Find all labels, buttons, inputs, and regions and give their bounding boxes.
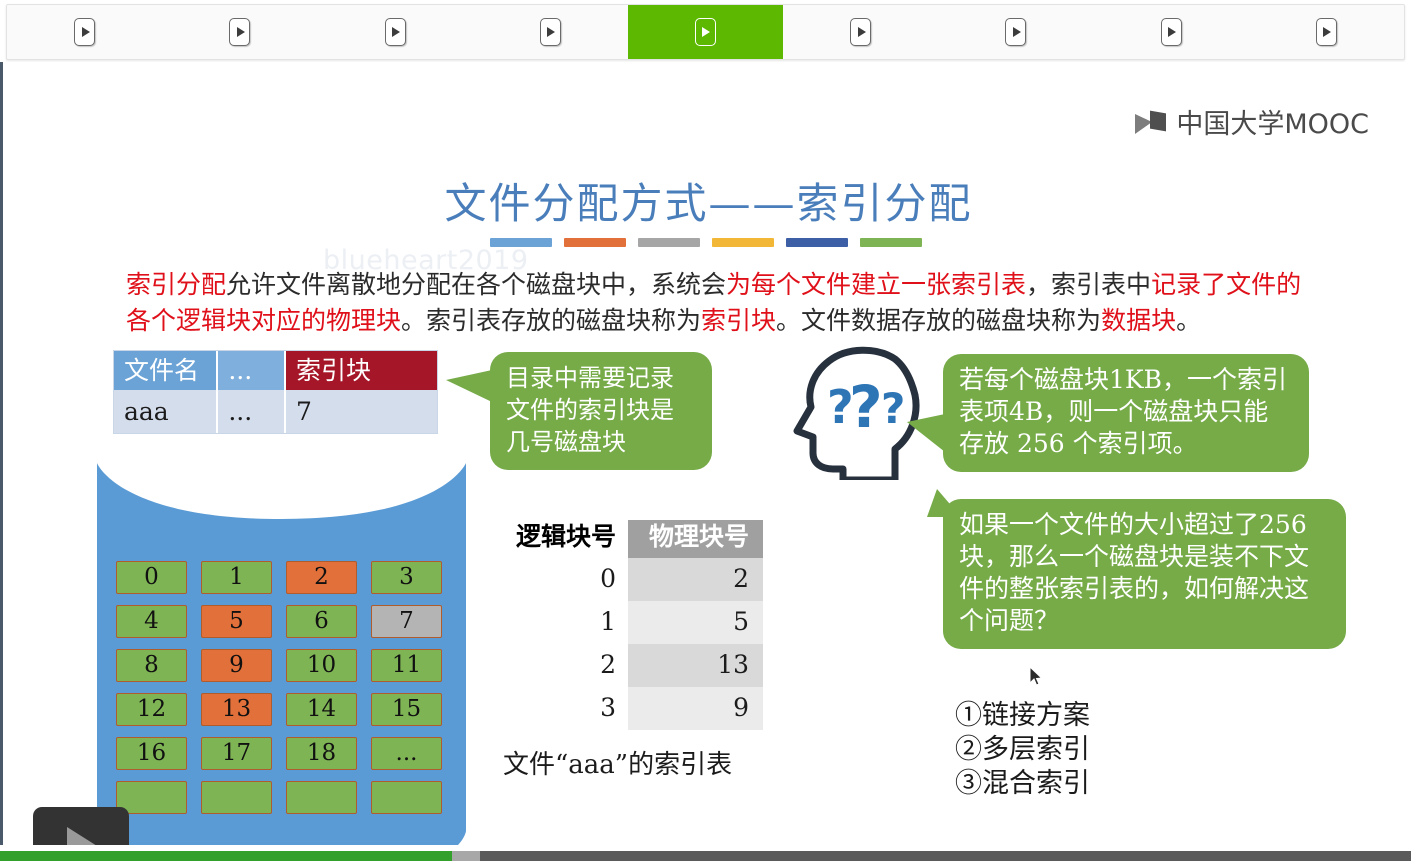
para-seg-2: 允许文件离散地分配在各个磁盘块中，系统会 [226, 270, 726, 299]
disk-block-row: 12 13 14 15 [116, 693, 451, 726]
rule-bar-5 [786, 238, 848, 247]
disk-block-row: 16 17 18 ... [116, 737, 451, 770]
index-table-header-row: 逻辑块号 物理块号 [503, 520, 763, 558]
title-underline-bars [490, 238, 922, 247]
rule-bar-4 [712, 238, 774, 247]
list-item: ①链接方案 [955, 700, 1090, 732]
disk-block-index: 7 [371, 605, 442, 638]
disk-block-data: 5 [201, 605, 272, 638]
video-play-icon [385, 18, 406, 46]
svg-text:?: ? [881, 384, 905, 433]
para-seg-1: 索引分配 [126, 270, 226, 299]
dir-header-indexblock: 索引块 [286, 351, 437, 390]
rule-bar-2 [564, 238, 626, 247]
disk-block: 11 [371, 649, 442, 682]
tab-video-1[interactable] [7, 5, 162, 59]
table-row: 3 9 [503, 687, 763, 730]
video-play-icon [850, 18, 871, 46]
video-progress-handle[interactable] [452, 851, 480, 861]
disk-block: 4 [116, 605, 187, 638]
tab-video-2[interactable] [162, 5, 317, 59]
callout-tail [927, 489, 961, 517]
para-seg-10: 。 [1176, 306, 1201, 335]
video-play-icon [229, 18, 250, 46]
callout-tail [446, 370, 492, 402]
play-button-overlay[interactable] [33, 807, 129, 845]
video-play-icon [540, 18, 561, 46]
index-cell-physical: 9 [628, 687, 763, 730]
disk-block-grid: 0 1 2 3 4 5 6 7 8 9 10 11 12 13 14 15 [116, 561, 451, 825]
solution-options-list: ①链接方案 ②多层索引 ③混合索引 [955, 700, 1090, 802]
dir-cell-ellipsis: ... [218, 390, 286, 433]
video-chapter-tabbar [6, 4, 1405, 60]
dir-header-filename: 文件名 [114, 351, 218, 390]
disk-block: 8 [116, 649, 187, 682]
index-cell-logical: 1 [503, 601, 628, 644]
disk-block: 15 [371, 693, 442, 726]
disk-block-row: 8 9 10 11 [116, 649, 451, 682]
disk-block: 18 [286, 737, 357, 770]
mooc-logo: 中国大学MOOC [1135, 102, 1369, 141]
callout-block-capacity-text: 若每个磁盘块1KB，一个索引表项4B，则一个磁盘块只能存放 256 个索引项。 [959, 365, 1287, 458]
video-progress-bar[interactable] [0, 851, 1411, 861]
dir-cell-filename: aaa [114, 390, 218, 433]
disk-block: 6 [286, 605, 357, 638]
video-progress-fill [0, 851, 452, 861]
disk-block: 12 [116, 693, 187, 726]
disk-block-data: 13 [201, 693, 272, 726]
video-play-icon [1161, 18, 1182, 46]
index-header-physical: 物理块号 [628, 520, 763, 558]
directory-table-header-row: 文件名 ... 索引块 [114, 351, 437, 390]
disk-block: 17 [201, 737, 272, 770]
tab-video-9[interactable] [1249, 5, 1404, 59]
index-cell-physical: 2 [628, 558, 763, 601]
play-triangle-icon [67, 827, 105, 845]
disk-block [286, 781, 357, 814]
tab-video-5-active[interactable] [628, 5, 783, 59]
index-header-logical: 逻辑块号 [503, 520, 628, 558]
disk-block: ... [371, 737, 442, 770]
index-table-caption: 文件“aaa”的索引表 [503, 744, 763, 781]
disk-block-data: 2 [286, 561, 357, 594]
mooc-book-icon [1135, 110, 1169, 134]
tab-video-6[interactable] [783, 5, 938, 59]
tab-video-4[interactable] [473, 5, 628, 59]
video-play-icon [1316, 18, 1337, 46]
video-play-icon [695, 18, 716, 46]
table-row: aaa ... 7 [114, 390, 437, 433]
video-play-icon [1005, 18, 1026, 46]
disk-block [201, 781, 272, 814]
slide-canvas: 中国大学MOOC blueheart2019 文件分配方式——索引分配 索引分配… [0, 62, 1411, 845]
disk-block: 16 [116, 737, 187, 770]
list-item: ②多层索引 [955, 734, 1090, 766]
callout-directory-note-text: 目录中需要记录文件的索引块是几号磁盘块 [506, 364, 674, 456]
para-seg-4: ，索引表中 [1026, 270, 1151, 299]
para-seg-7: 索引块 [701, 306, 776, 335]
thinking-head-icon: ? ? ? [789, 345, 929, 480]
mouse-cursor-icon [1029, 666, 1043, 686]
disk-block [371, 781, 442, 814]
mooc-logo-text: 中国大学MOOC [1176, 102, 1369, 141]
index-cell-logical: 3 [503, 687, 628, 730]
svg-text:?: ? [849, 373, 883, 441]
list-item: ③混合索引 [955, 768, 1090, 800]
disk-block: 0 [116, 561, 187, 594]
index-cell-logical: 0 [503, 558, 628, 601]
callout-large-file-question: 如果一个文件的大小超过了256块，那么一个磁盘块是装不下文件的整张索引表的，如何… [943, 499, 1346, 649]
index-cell-logical: 2 [503, 644, 628, 687]
para-seg-6: 。索引表存放的磁盘块称为 [401, 306, 701, 335]
disk-block-row: 0 1 2 3 [116, 561, 451, 594]
disk-block-data: 9 [201, 649, 272, 682]
body-paragraph: 索引分配允许文件离散地分配在各个磁盘块中，系统会为每个文件建立一张索引表，索引表… [126, 267, 1326, 339]
page-title: 文件分配方式——索引分配 [3, 170, 1411, 231]
video-play-icon [74, 18, 95, 46]
video-player-page: 中国大学MOOC blueheart2019 文件分配方式——索引分配 索引分配… [0, 0, 1411, 863]
disk-block-row: 4 5 6 7 [116, 605, 451, 638]
disk-block: 1 [201, 561, 272, 594]
dir-header-ellipsis: ... [218, 351, 286, 390]
callout-large-file-question-text: 如果一个文件的大小超过了256块，那么一个磁盘块是装不下文件的整张索引表的，如何… [959, 510, 1309, 635]
callout-directory-note: 目录中需要记录文件的索引块是几号磁盘块 [490, 352, 712, 470]
disk-block: 14 [286, 693, 357, 726]
callout-tail [907, 414, 945, 452]
callout-block-capacity: 若每个磁盘块1KB，一个索引表项4B，则一个磁盘块只能存放 256 个索引项。 [943, 354, 1309, 472]
tab-video-3[interactable] [317, 5, 472, 59]
table-row: 1 5 [503, 601, 763, 644]
disk-block-row [116, 781, 451, 814]
index-cell-physical: 5 [628, 601, 763, 644]
table-row: 0 2 [503, 558, 763, 601]
rule-bar-3 [638, 238, 700, 247]
para-seg-9: 数据块 [1101, 306, 1176, 335]
rule-bar-6 [860, 238, 922, 247]
para-seg-3: 为每个文件建立一张索引表 [726, 270, 1026, 299]
table-row: 2 13 [503, 644, 763, 687]
tab-video-7[interactable] [938, 5, 1093, 59]
disk-block: 10 [286, 649, 357, 682]
para-seg-8: 。文件数据存放的磁盘块称为 [776, 306, 1101, 335]
directory-table: 文件名 ... 索引块 aaa ... 7 [113, 350, 438, 434]
dir-cell-indexblock: 7 [286, 390, 437, 433]
rule-bar-1 [490, 238, 552, 247]
index-cell-physical: 13 [628, 644, 763, 687]
index-table: 逻辑块号 物理块号 0 2 1 5 2 13 3 9 文件“aaa”的索引表 [503, 520, 763, 781]
disk-block: 3 [371, 561, 442, 594]
tab-video-8[interactable] [1094, 5, 1249, 59]
